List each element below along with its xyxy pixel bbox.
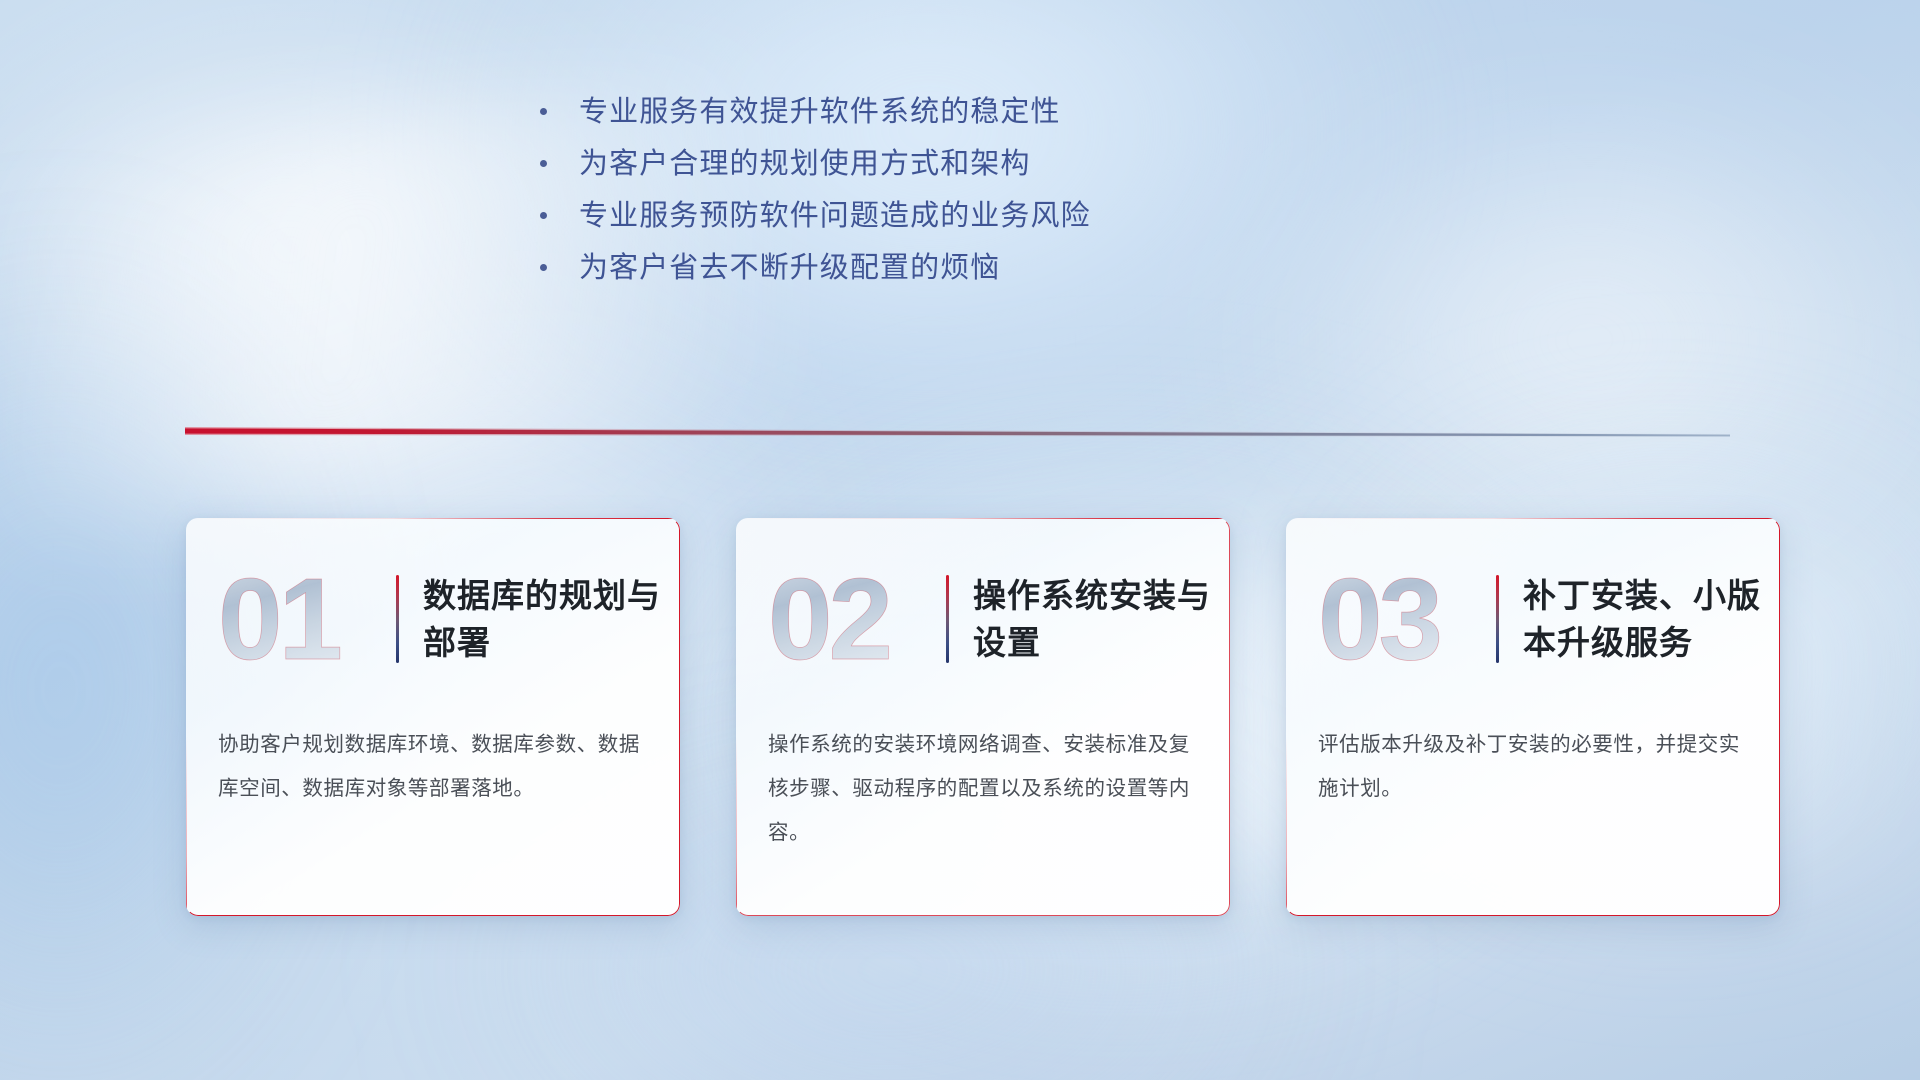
bullet-label: 专业服务有效提升软件系统的稳定性 [579,86,1061,138]
bullet-dot-icon [540,160,547,167]
card-description: 评估版本升级及补丁安装的必要性，并提交实施计划。 [1318,723,1750,811]
card-title-rule [1496,575,1499,663]
bullet-dot-icon [540,108,547,115]
tapered-divider-icon [185,425,1730,447]
bullet-label: 为客户合理的规划使用方式和架构 [579,138,1031,190]
service-card[interactable]: 02 02 操作系统安装与设置 操作系统的安装环境网络调查、安装标准及复核步骤、… [736,518,1230,916]
svg-text:03: 03 [1318,563,1440,675]
card-header: 03 03 补丁安装、小版本升级服务 [1286,544,1780,694]
list-item: 为客户省去不断升级配置的烦恼 [540,242,1340,294]
card-description: 协助客户规划数据库环境、数据库参数、数据库空间、数据库对象等部署落地。 [218,723,650,811]
ghost-number-01-icon: 01 01 [214,563,386,675]
bullet-label: 专业服务预防软件问题造成的业务风险 [579,190,1091,242]
service-card[interactable]: 03 03 补丁安装、小版本升级服务 评估版本升级及补丁安装的必要性，并提交实施… [1286,518,1780,916]
card-title: 数据库的规划与部署 [423,572,680,666]
service-card[interactable]: 01 01 数据库的规划与部署 协助客户规划数据库环境、数据库参数、数据库空间、… [186,518,680,916]
svg-text:01: 01 [218,563,341,675]
svg-text:02: 02 [768,563,889,675]
list-item: 为客户合理的规划使用方式和架构 [540,138,1340,190]
bullet-dot-icon [540,264,547,271]
card-title: 操作系统安装与设置 [973,572,1230,666]
card-header: 02 02 操作系统安装与设置 [736,544,1230,694]
bullet-label: 为客户省去不断升级配置的烦恼 [579,242,1000,294]
ghost-number-03-icon: 03 03 [1314,563,1486,675]
bullet-dot-icon [540,212,547,219]
card-description: 操作系统的安装环境网络调查、安装标准及复核步骤、驱动程序的配置以及系统的设置等内… [768,723,1200,855]
ghost-number-02-icon: 02 02 [764,563,936,675]
list-item: 专业服务预防软件问题造成的业务风险 [540,190,1340,242]
card-title-rule [396,575,399,663]
section-divider [185,425,1730,447]
list-item: 专业服务有效提升软件系统的稳定性 [540,86,1340,138]
card-header: 01 01 数据库的规划与部署 [186,544,680,694]
card-title-rule [946,575,949,663]
service-card-list: 01 01 数据库的规划与部署 协助客户规划数据库环境、数据库参数、数据库空间、… [186,518,1780,916]
benefits-bullet-list: 专业服务有效提升软件系统的稳定性 为客户合理的规划使用方式和架构 专业服务预防软… [540,86,1340,294]
card-title: 补丁安装、小版本升级服务 [1523,572,1780,666]
